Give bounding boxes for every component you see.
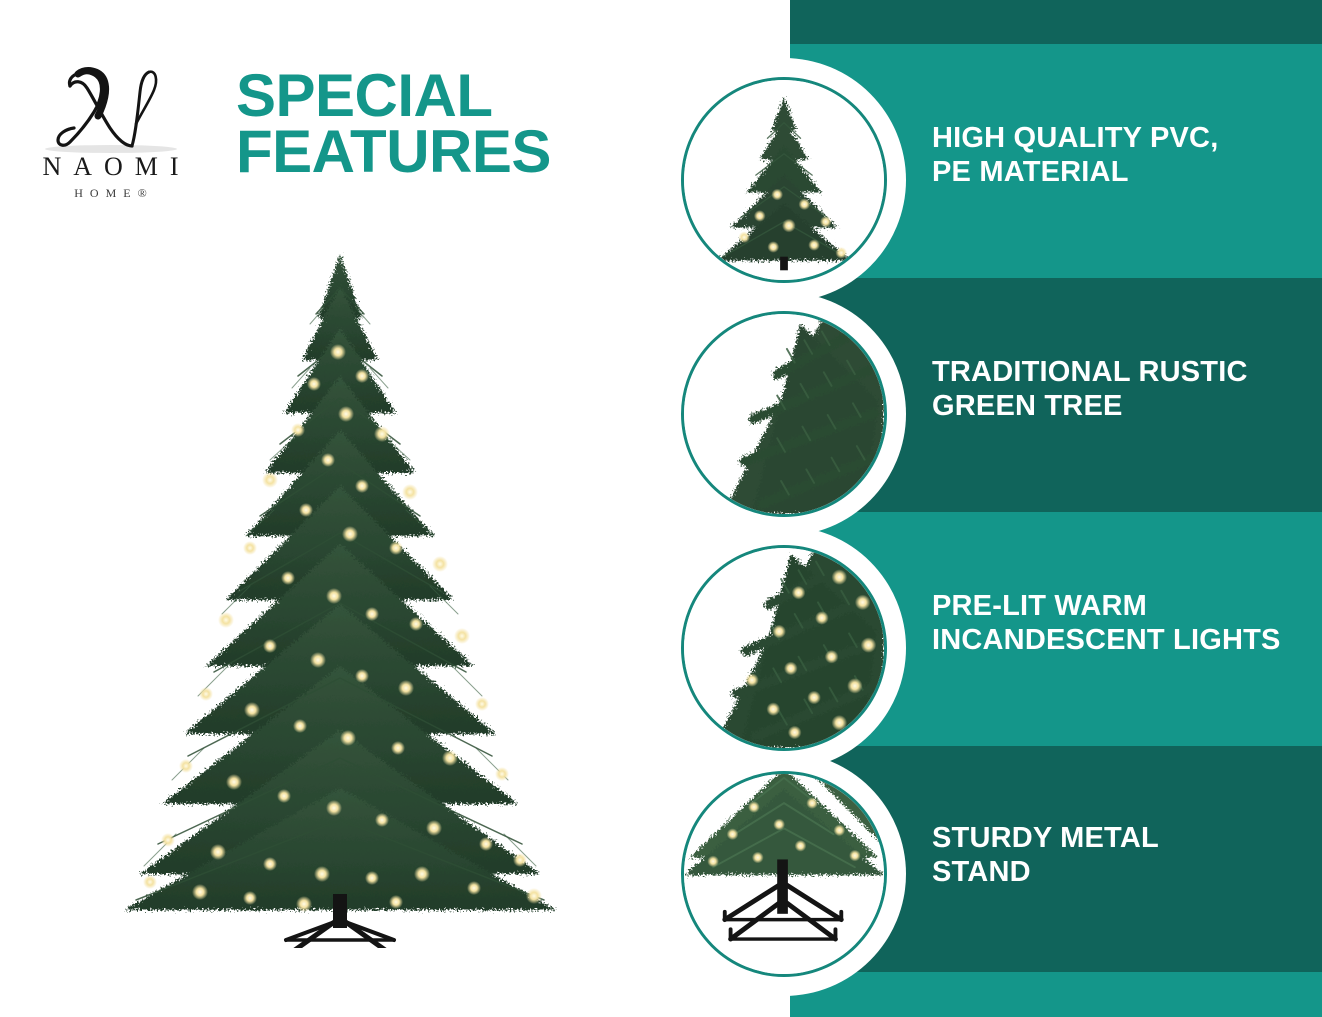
- naomi-script-monogram-icon: [8, 66, 213, 154]
- page-title-line-2: FEATURES: [236, 124, 666, 180]
- brand-logo: NAOMI HOME®: [8, 66, 213, 216]
- bottom-accent-strip: [790, 972, 1322, 1017]
- hero-tree-image: [110, 248, 570, 948]
- page-title: SPECIAL FEATURES: [236, 68, 666, 180]
- feature-thumb-green-tree[interactable]: [662, 292, 906, 536]
- infographic-root: NAOMI HOME® SPECIAL FEATURES: [0, 0, 1322, 1017]
- green-branches-closeup-thumb-icon: [681, 311, 887, 517]
- feature-thumb-pre-lit[interactable]: [662, 526, 906, 770]
- feature-label-green-tree: TRADITIONAL RUSTIC GREEN TREE: [932, 356, 1248, 423]
- top-accent-strip: [790, 0, 1322, 44]
- feature-label-pre-lit: PRE-LIT WARM INCANDESCENT LIGHTS: [932, 590, 1281, 657]
- feature-thumb-material[interactable]: [662, 58, 906, 302]
- feature-label-material: HIGH QUALITY PVC, PE MATERIAL: [932, 122, 1218, 189]
- christmas-tree-full-thumb-icon: [681, 77, 887, 283]
- metal-tree-stand-thumb-icon: [681, 771, 887, 977]
- brand-name: NAOMI: [8, 152, 213, 182]
- feature-thumb-stand[interactable]: [662, 752, 906, 996]
- brand-subtitle: HOME®: [8, 186, 213, 200]
- feature-label-stand: STURDY METAL STAND: [932, 822, 1159, 889]
- warm-lights-branches-thumb-icon: [681, 545, 887, 751]
